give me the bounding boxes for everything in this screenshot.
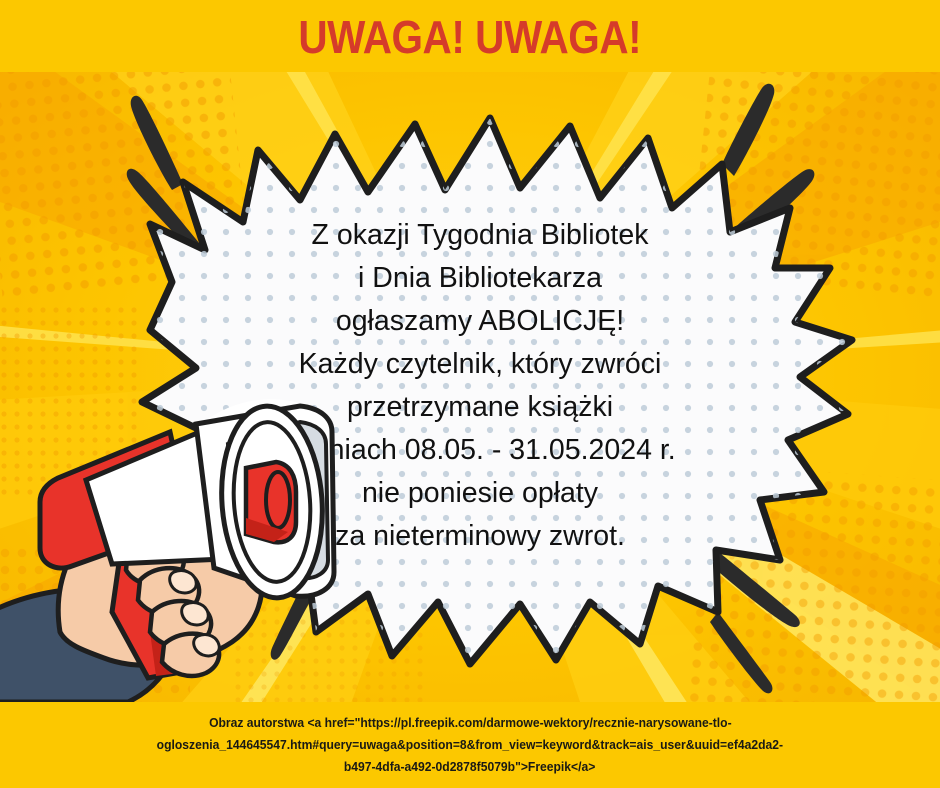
poster-canvas: Z okazji Tygodnia Bibliotek i Dnia Bibli… — [0, 0, 940, 788]
megaphone-illustration — [0, 72, 940, 702]
title-banner: UWAGA! UWAGA! — [0, 0, 940, 72]
page-title: UWAGA! UWAGA! — [299, 14, 642, 60]
attribution-line-3: b497-4dfa-a492-0d2878f5079b">Freepik</a> — [344, 756, 595, 778]
attribution-line-1: Obraz autorstwa <a href="https://pl.free… — [209, 712, 732, 734]
attribution-line-2: ogloszenia_144645547.htm#query=uwaga&pos… — [157, 734, 783, 756]
attribution-footer: Obraz autorstwa <a href="https://pl.free… — [0, 702, 940, 788]
poster-artwork: Z okazji Tygodnia Bibliotek i Dnia Bibli… — [0, 72, 940, 702]
